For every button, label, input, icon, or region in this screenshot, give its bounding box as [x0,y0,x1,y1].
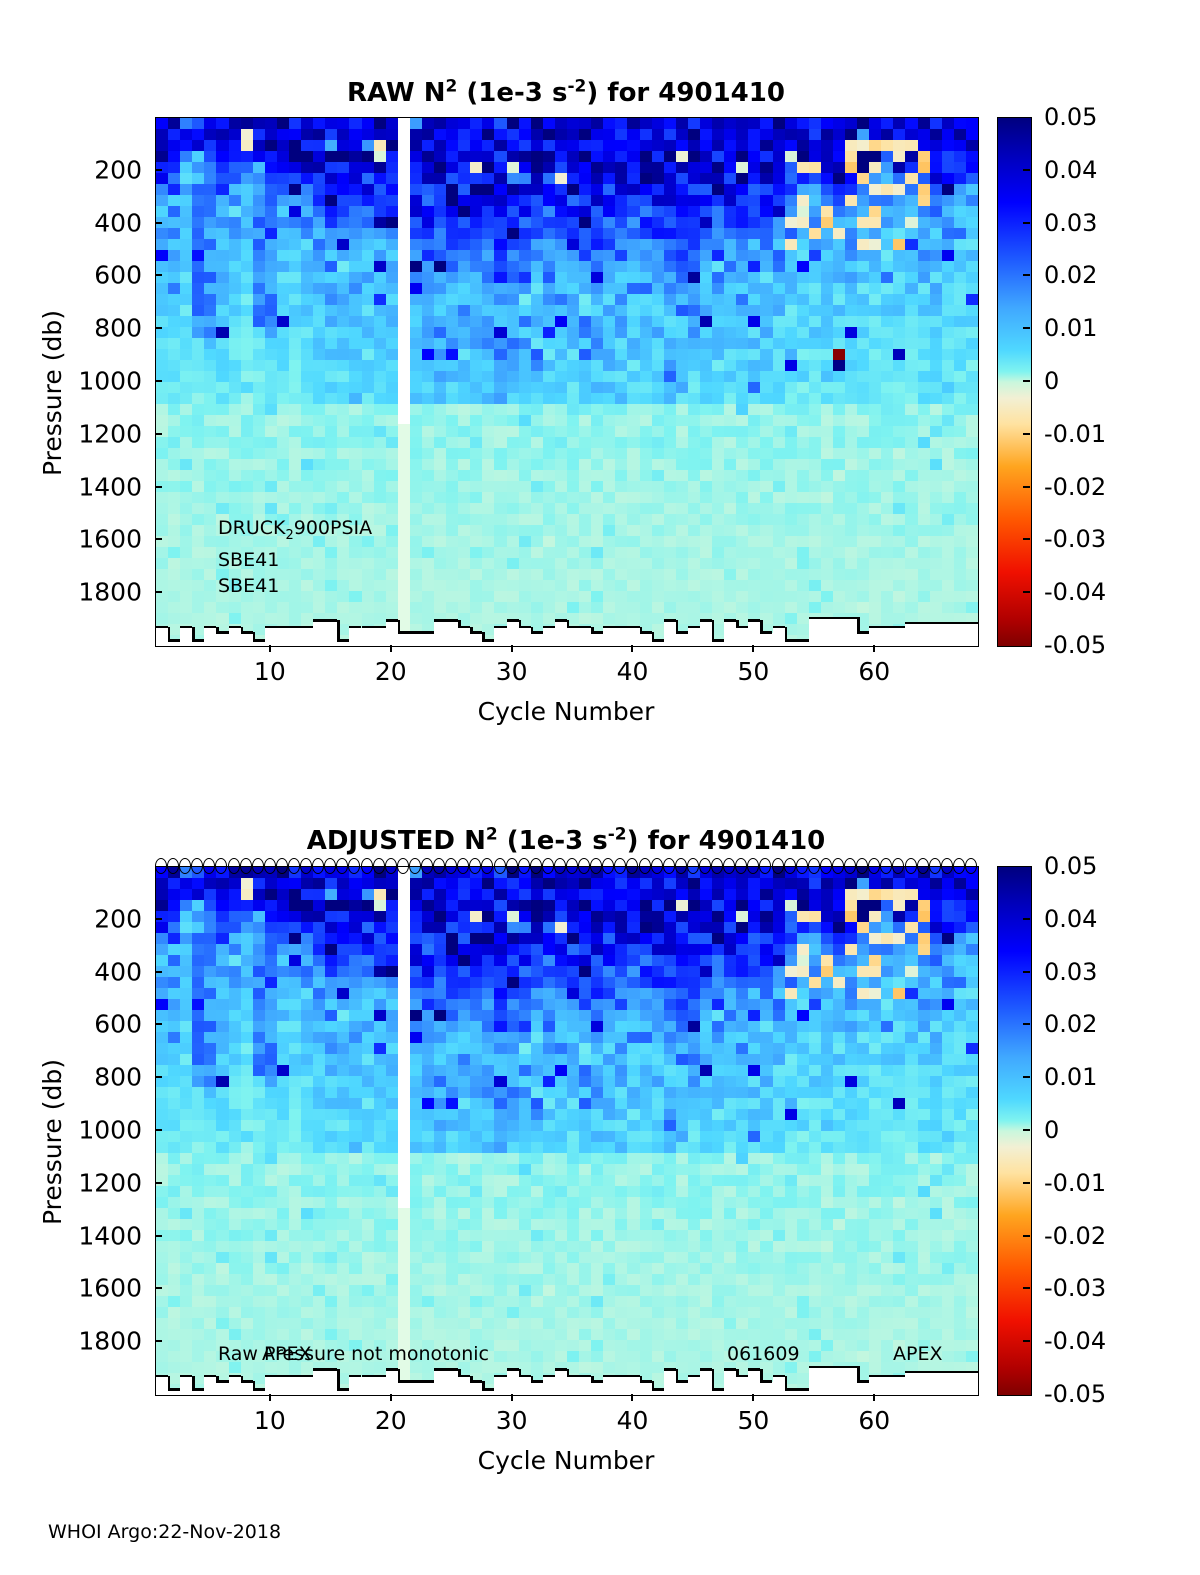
heatmap-cell [241,415,254,427]
heatmap-cell [519,195,532,207]
heatmap-cell [253,338,266,350]
heatmap-cell [748,261,761,273]
heatmap-cell [555,1263,568,1275]
heatmap-cell [422,1142,435,1154]
heatmap-cell [627,283,640,295]
heatmap-cell [434,129,447,141]
heatmap-cell [386,382,399,394]
heatmap-cell [688,481,701,493]
heatmap-cell [325,999,338,1011]
heatmap-cell [507,1109,520,1121]
heatmap-cell [785,536,798,548]
heatmap-cell [313,977,326,989]
heatmap-cell [253,1274,266,1286]
below-profile-blank [482,641,495,647]
heatmap-cell [567,327,580,339]
heatmap-cell [470,514,483,526]
heatmap-cell [410,1197,423,1209]
heatmap-cell [289,327,302,339]
heatmap-cell [216,988,229,1000]
heatmap-cell [543,1109,556,1121]
heatmap-cell [156,1252,169,1264]
heatmap-cell [905,261,918,273]
heatmap-cell [773,426,786,438]
heatmap-cell [688,437,701,449]
heatmap-cell [458,173,471,185]
heatmap-cell [918,525,931,537]
heatmap-cell [507,1054,520,1066]
heatmap-cell [627,602,640,614]
heatmap-cell [966,525,979,537]
heatmap-cell [857,195,870,207]
heatmap-cell [736,481,749,493]
heatmap-cell [567,1186,580,1198]
heatmap-cell [470,911,483,923]
heatmap-cell [507,437,520,449]
heatmap-cell [857,305,870,317]
heatmap-cell [821,503,834,515]
heatmap-cell [168,1065,181,1077]
heatmap-cell [386,503,399,515]
heatmap-cell [180,547,193,559]
heatmap-cell [821,437,834,449]
heatmap-cell [180,1076,193,1088]
below-profile-blank [930,624,943,647]
heatmap-cell [905,272,918,284]
heatmap-cell [507,1076,520,1088]
heatmap-cell [301,118,314,130]
heatmap-cell [857,569,870,581]
heatmap-cell [688,558,701,570]
heatmap-cell [555,1274,568,1286]
heatmap-cell [567,1340,580,1352]
heatmap-cell [216,1175,229,1187]
heatmap-cell [494,514,507,526]
heatmap-cell [337,944,350,956]
heatmap-cell [386,206,399,218]
heatmap-cell [386,1021,399,1033]
max-depth-step [519,626,531,628]
heatmap-cell [519,206,532,218]
heatmap-cell [676,261,689,273]
heatmap-cell [893,503,906,515]
heatmap-cell [301,1252,314,1264]
heatmap-cell [507,889,520,901]
heatmap-cell [470,338,483,350]
heatmap-cell [362,1043,375,1055]
heatmap-cell [229,613,242,625]
heatmap-cell [156,1296,169,1308]
heatmap-cell [337,437,350,449]
heatmap-cell [773,536,786,548]
heatmap-cell [555,922,568,934]
heatmap-cell [519,1054,532,1066]
heatmap-cell [724,602,737,614]
heatmap-cell [253,272,266,284]
heatmap-cell [748,338,761,350]
heatmap-cell [229,602,242,614]
heatmap-cell [410,1219,423,1231]
heatmap-cell [349,911,362,923]
heatmap-cell [567,415,580,427]
heatmap-cell [168,525,181,537]
heatmap-cell [362,360,375,372]
heatmap-cell [156,250,169,262]
heatmap-cell [470,955,483,967]
heatmap-cell [410,966,423,978]
heatmap-cell [253,1131,266,1143]
heatmap-cell [845,525,858,537]
heatmap-cell [458,151,471,163]
heatmap-cell [482,1318,495,1330]
heatmap-cell [809,129,822,141]
heatmap-cell [458,1098,471,1110]
max-depth-step [386,619,398,621]
heatmap-cell [930,382,943,394]
heatmap-cell [204,955,217,967]
heatmap-cell [180,140,193,152]
heatmap-cell [446,305,459,317]
heatmap-cell [543,1164,556,1176]
heatmap-cell [446,977,459,989]
heatmap-cell [579,1098,592,1110]
heatmap-cell [615,316,628,328]
heatmap-cell [192,1186,205,1198]
title-units: (1e-3 s [498,826,608,856]
heatmap-cell [918,404,931,416]
heatmap-cell [773,393,786,405]
max-depth-step [821,617,833,619]
heatmap-cell [422,250,435,262]
heatmap-cell [507,1153,520,1165]
heatmap-cell [289,261,302,273]
heatmap-cell [337,1109,350,1121]
heatmap-cell [531,437,544,449]
heatmap-cell [289,1010,302,1022]
heatmap-cell [869,525,882,537]
heatmap-cell [579,1065,592,1077]
heatmap-cell [216,933,229,945]
heatmap-cell [434,272,447,284]
heatmap-cell [434,294,447,306]
heatmap-cell [216,239,229,251]
heatmap-cell [494,1362,507,1374]
heatmap-cell [507,382,520,394]
heatmap-cell [301,1054,314,1066]
heatmap-cell [881,569,894,581]
heatmap-cell [277,878,290,890]
heatmap-cell [591,1065,604,1077]
heatmap-cell [168,162,181,174]
heatmap-cell [893,492,906,504]
heatmap-cell [700,591,713,603]
heatmap-cell [434,503,447,515]
heatmap-cell [531,217,544,229]
heatmap-cell [664,437,677,449]
heatmap-cell [265,1076,278,1088]
heatmap-cell [168,569,181,581]
heatmap-cell [241,272,254,284]
heatmap-cell [349,129,362,141]
heatmap-cell [494,371,507,383]
heatmap-cell [337,217,350,229]
heatmap-cell [942,547,955,559]
heatmap-cell [531,228,544,240]
heatmap-cell [168,1318,181,1330]
heatmap-cell [349,1307,362,1319]
heatmap-cell [519,580,532,592]
heatmap-cell [313,426,326,438]
heatmap-cell [748,129,761,141]
heatmap-cell [748,184,761,196]
heatmap-cell [216,1208,229,1220]
heatmap-cell [204,1109,217,1121]
heatmap-cell [507,966,520,978]
heatmap-cell [434,922,447,934]
heatmap-cell [253,1087,266,1099]
heatmap-cell [470,1142,483,1154]
heatmap-cell [277,1043,290,1055]
heatmap-cell [168,1230,181,1242]
heatmap-cell [434,382,447,394]
heatmap-cell [470,1296,483,1308]
heatmap-cell [277,602,290,614]
heatmap-cell [241,1043,254,1055]
heatmap-cell [627,261,640,273]
heatmap-cell [434,955,447,967]
heatmap-cell [470,1021,483,1033]
heatmap-cell [881,239,894,251]
heatmap-cell [724,217,737,229]
heatmap-cell [809,184,822,196]
heatmap-cell [845,580,858,592]
heatmap-cell [192,437,205,449]
heatmap-cell [494,1131,507,1143]
heatmap-cell [192,481,205,493]
heatmap-cell [458,393,471,405]
heatmap-cell [712,415,725,427]
heatmap-cell [579,1340,592,1352]
heatmap-cell [325,878,338,890]
heatmap-cell [313,228,326,240]
heatmap-cell [241,470,254,482]
raw-colorbar-gradient [998,118,1031,646]
heatmap-cell [277,327,290,339]
heatmap-cell [507,140,520,152]
heatmap-cell [736,217,749,229]
heatmap-cell [216,316,229,328]
heatmap-cell [857,426,870,438]
heatmap-cell [591,878,604,890]
heatmap-cell [325,911,338,923]
heatmap-cell [531,558,544,570]
heatmap-cell [410,900,423,912]
heatmap-cell [156,382,169,394]
heatmap-cell [180,272,193,284]
heatmap-cell [857,338,870,350]
heatmap-cell [954,195,967,207]
heatmap-cell [519,1318,532,1330]
heatmap-cell [494,933,507,945]
heatmap-cell [204,459,217,471]
max-depth-step [470,631,482,633]
heatmap-cell [325,338,338,350]
heatmap-cell [494,1230,507,1242]
heatmap-cell [579,481,592,493]
heatmap-cell [785,129,798,141]
heatmap-cell [362,1120,375,1132]
heatmap-cell [579,613,592,625]
heatmap-cell [881,151,894,163]
heatmap-cell [253,1329,266,1341]
heatmap-cell [688,283,701,295]
heatmap-cell [881,360,894,372]
heatmap-cell [349,966,362,978]
heatmap-cell [640,349,653,361]
heatmap-cell [676,459,689,471]
heatmap-cell [301,162,314,174]
heatmap-cell [507,360,520,372]
heatmap-cell [507,944,520,956]
heatmap-cell [797,228,810,240]
heatmap-cell [494,1098,507,1110]
heatmap-cell [216,1186,229,1198]
heatmap-cell [325,1274,338,1286]
heatmap-cell [470,459,483,471]
heatmap-cell [869,426,882,438]
heatmap-cell [809,305,822,317]
heatmap-cell [216,878,229,890]
heatmap-cell [241,1219,254,1231]
heatmap-cell [422,580,435,592]
heatmap-cell [494,1351,507,1363]
heatmap-cell [325,988,338,1000]
heatmap-cell [785,525,798,537]
heatmap-cell [615,514,628,526]
heatmap-cell [313,1186,326,1198]
heatmap-cell [748,360,761,372]
heatmap-cell [845,459,858,471]
heatmap-cell [156,988,169,1000]
heatmap-cell [918,305,931,317]
heatmap-cell [277,283,290,295]
heatmap-cell [519,305,532,317]
heatmap-cell [446,206,459,218]
heatmap-cell [482,602,495,614]
heatmap-cell [942,316,955,328]
heatmap-cell [905,547,918,559]
heatmap-cell [930,371,943,383]
heatmap-cell [543,1241,556,1253]
heatmap-cell [579,933,592,945]
heatmap-cell [531,1087,544,1099]
heatmap-cell [241,900,254,912]
heatmap-cell [893,580,906,592]
max-depth-step [676,631,688,633]
heatmap-cell [180,206,193,218]
heatmap-cell [265,283,278,295]
heatmap-cell [833,283,846,295]
heatmap-cell [337,261,350,273]
heatmap-cell [204,1252,217,1264]
heatmap-cell [494,349,507,361]
heatmap-cell [676,569,689,581]
heatmap-cell [773,602,786,614]
heatmap-cell [664,283,677,295]
heatmap-cell [446,217,459,229]
heatmap-cell [386,393,399,405]
heatmap-cell [422,338,435,350]
heatmap-cell [192,1219,205,1231]
heatmap-cell [470,492,483,504]
heatmap-cell [253,1043,266,1055]
heatmap-cell [688,459,701,471]
heatmap-cell [809,492,822,504]
heatmap-cell [180,382,193,394]
heatmap-cell [954,129,967,141]
heatmap-cell [349,239,362,251]
heatmap-cell [494,602,507,614]
heatmap-cell [688,349,701,361]
heatmap-cell [470,966,483,978]
heatmap-cell [156,1098,169,1110]
heatmap-cell [905,525,918,537]
heatmap-cell [301,371,314,383]
heatmap-cell [543,426,556,438]
heatmap-cell [966,426,979,438]
heatmap-cell [337,1043,350,1055]
below-profile-blank [313,621,326,647]
heatmap-cell [507,1274,520,1286]
heatmap-cell [325,118,338,130]
heatmap-cell [555,261,568,273]
heatmap-cell [821,118,834,130]
heatmap-cell [386,955,399,967]
heatmap-cell [325,1318,338,1330]
heatmap-cell [349,955,362,967]
heatmap-cell [833,151,846,163]
heatmap-cell [301,415,314,427]
heatmap-cell [374,1307,387,1319]
heatmap-cell [676,360,689,372]
heatmap-cell [216,327,229,339]
heatmap-cell [652,569,665,581]
heatmap-cell [180,1021,193,1033]
heatmap-cell [519,977,532,989]
heatmap-cell [543,437,556,449]
heatmap-cell [543,184,556,196]
heatmap-cell [362,1142,375,1154]
heatmap-cell [410,1142,423,1154]
heatmap-cell [349,217,362,229]
heatmap-cell [543,448,556,460]
heatmap-cell [277,228,290,240]
heatmap-cell [386,481,399,493]
heatmap-cell [422,470,435,482]
heatmap-cell [313,437,326,449]
heatmap-cell [362,503,375,515]
heatmap-cell [954,481,967,493]
heatmap-cell [325,371,338,383]
heatmap-cell [229,151,242,163]
heatmap-cell [446,1142,459,1154]
max-depth-step [688,626,700,628]
heatmap-cell [676,371,689,383]
heatmap-cell [265,305,278,317]
heatmap-cell [615,415,628,427]
heatmap-cell [458,327,471,339]
heatmap-cell [809,316,822,328]
